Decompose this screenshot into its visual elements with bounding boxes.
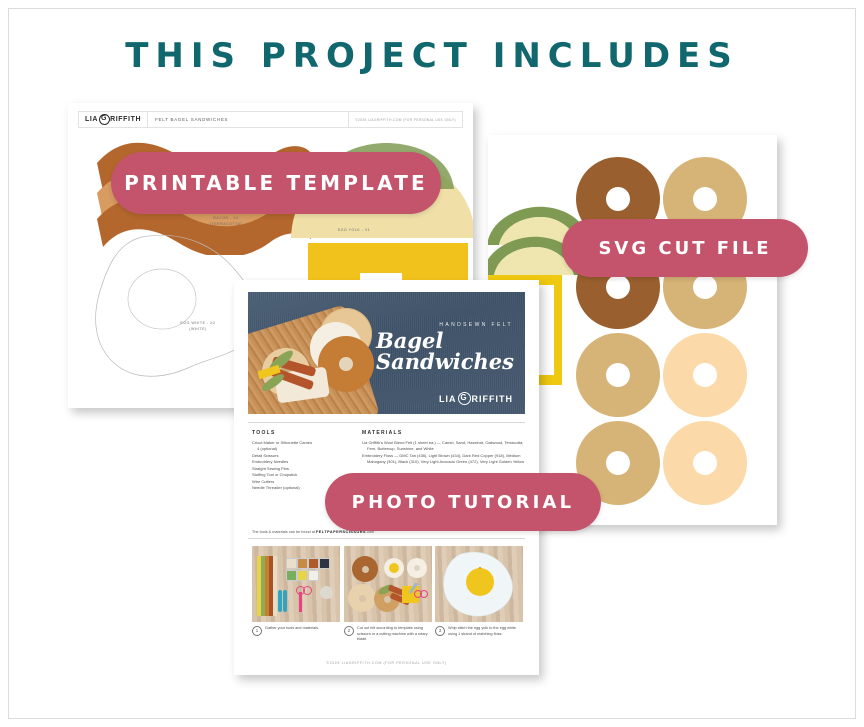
- hero-title: Bagel Sandwiches: [376, 330, 514, 373]
- tutorial-step: 2 Cut out felt according to template usi…: [344, 546, 432, 643]
- tools-item: Detail Scissors: [252, 453, 278, 458]
- page-title: THIS PROJECT INCLUDES: [0, 36, 864, 76]
- template-doc-name: FELT BAGEL SANDWICHES: [148, 117, 348, 122]
- step-photo: [344, 546, 432, 622]
- step-text: Gather your tools and materials.: [265, 626, 319, 636]
- bagel-ring: [576, 333, 660, 417]
- logo-g-icon: G: [458, 392, 471, 405]
- bagel-ring: [663, 333, 747, 417]
- step-number: 3: [435, 626, 445, 636]
- step-text: Whip stitch the egg yolk to the egg whit…: [448, 626, 523, 637]
- badge-printable-template[interactable]: PRINTABLE TEMPLATE: [111, 152, 441, 214]
- sheet-footer: ©2025 LIAGRIFFITH.COM (FOR PERSONAL USE …: [234, 661, 539, 665]
- tools-item: Straight Sewing Pins: [252, 466, 289, 471]
- hero-photo: HANDSEWN FELT Bagel Sandwiches LIAGRIFFI…: [248, 292, 525, 414]
- tools-item: Wire Cutters: [252, 479, 274, 484]
- divider: [248, 422, 525, 423]
- step-number: 1: [252, 626, 262, 636]
- step-caption: 2 Cut out felt according to template usi…: [344, 626, 432, 643]
- materials-line: Embroidery Floss — DMC Tan (436), Light …: [362, 453, 520, 458]
- lia-griffith-logo: LIAGRIFFITH: [439, 392, 513, 405]
- bagel-ring: [663, 421, 747, 505]
- tutorial-step: 1 Gather your tools and materials.: [252, 546, 340, 636]
- hero-title-line1: Bagel: [376, 330, 514, 351]
- template-header: LIAGRIFFITH FELT BAGEL SANDWICHES ©2025 …: [78, 111, 463, 128]
- template-copyright: ©2025 LIAGRIFFITH.COM (FOR PERSONAL USE …: [348, 112, 462, 127]
- egg-yolk-piece-label: EGG YOLK - X1: [314, 228, 394, 234]
- logo-text-right: RIFFITH: [472, 394, 514, 404]
- logo-text-right: RIFFITH: [110, 116, 141, 123]
- materials-line: Mahogany (301), Black (310), Very Light …: [362, 459, 527, 465]
- materials-list: Lia Griffith's Wool Blend Felt (1 sheet …: [362, 440, 527, 466]
- divider: [248, 538, 525, 539]
- tools-item: Stuffing Tool or Chopstick: [252, 472, 297, 477]
- materials-heading: MATERIALS: [362, 430, 403, 436]
- tools-heading: TOOLS: [252, 430, 276, 436]
- tutorial-step: 3 Whip stitch the egg yolk to the egg wh…: [435, 546, 523, 637]
- egg-yolk-piece-name: EGG YOLK - X1: [314, 228, 394, 234]
- badge-svg-cut-file[interactable]: SVG CUT FILE: [562, 219, 808, 277]
- tools-item: Needle Threader (optional): [252, 485, 300, 490]
- hero-kicker: HANDSEWN FELT: [439, 322, 513, 328]
- egg-white-piece-label: EGG WHITE - X2 (WHITE): [153, 321, 243, 332]
- hero-title-line2: Sandwiches: [376, 351, 514, 372]
- badge-photo-tutorial[interactable]: PHOTO TUTORIAL: [325, 473, 601, 531]
- materials-line: Lia Griffith's Wool Blend Felt (1 sheet …: [362, 440, 523, 445]
- logo-g-icon: G: [99, 114, 110, 125]
- logo-text-left: LIA: [85, 116, 98, 123]
- egg-white-piece-material: (WHITE): [153, 327, 243, 333]
- bacon-piece-material: (TERRACOTTA): [181, 222, 271, 228]
- step-photo: [252, 546, 340, 622]
- lia-griffith-logo: LIAGRIFFITH: [79, 112, 148, 127]
- bacon-piece-label: BACON - X4 (TERRACOTTA): [181, 216, 271, 227]
- tools-item: Cricut Maker or Silhouette Cameo: [252, 440, 312, 445]
- step-photo: [435, 546, 523, 622]
- step-text: Cut out felt according to template using…: [357, 626, 432, 643]
- tools-item: Embroidery Needles: [252, 459, 288, 464]
- logo-text-left: LIA: [439, 394, 457, 404]
- step-caption: 3 Whip stitch the egg yolk to the egg wh…: [435, 626, 523, 637]
- footnote-prefix: The tools & materials can be found at: [252, 530, 316, 534]
- step-caption: 1 Gather your tools and materials.: [252, 626, 340, 636]
- step-number: 2: [344, 626, 354, 636]
